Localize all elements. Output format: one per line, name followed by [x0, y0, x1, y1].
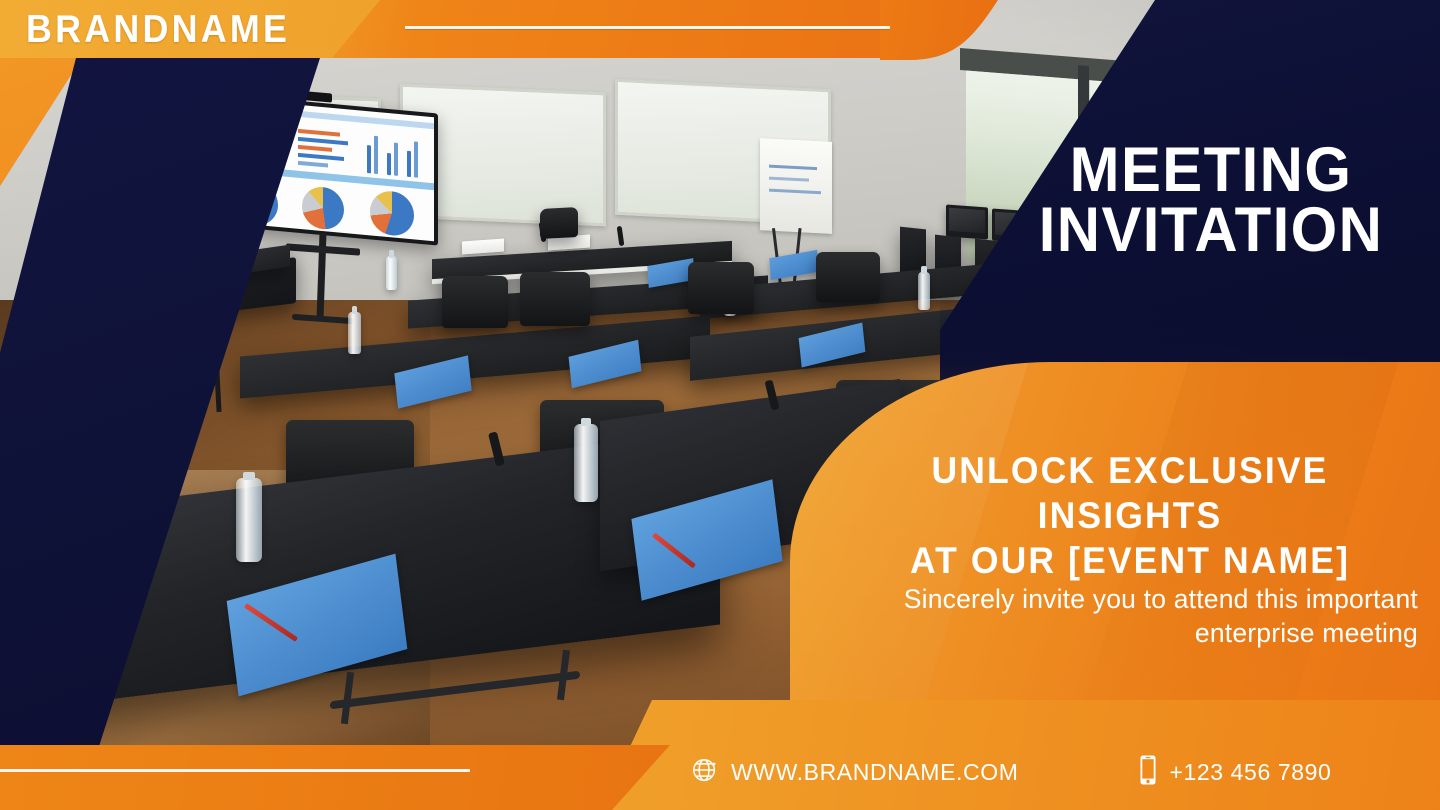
footer-contact-items: WWW.BRANDNAME.COM +123 456 7890 — [690, 748, 1430, 796]
globe-icon — [690, 755, 720, 790]
page-title: MEETING INVITATION — [1002, 140, 1420, 261]
footer-band-dark — [0, 745, 680, 810]
phone-label: +123 456 7890 — [1169, 759, 1331, 786]
invitation-canvas: BRANDNAME MEETING INVITATION UNLOCK EXCL… — [0, 0, 1440, 810]
footer-website[interactable]: WWW.BRANDNAME.COM — [690, 755, 1018, 790]
footer-phone[interactable]: +123 456 7890 — [1138, 754, 1331, 791]
chair — [688, 262, 754, 314]
monitor — [946, 205, 988, 240]
headline-line-2: AT OUR [EVENT NAME] — [842, 538, 1418, 583]
website-label: WWW.BRANDNAME.COM — [731, 759, 1018, 786]
pie-chart — [370, 189, 414, 237]
water-bottle — [386, 256, 397, 290]
flipchart — [760, 138, 832, 234]
water-bottle — [348, 312, 361, 354]
chair — [520, 272, 590, 326]
pie-chart — [302, 185, 344, 231]
footer-divider-line — [0, 769, 470, 772]
headline-line-1: UNLOCK EXCLUSIVE INSIGHTS — [842, 448, 1418, 538]
header-divider-line — [405, 26, 890, 29]
chair — [816, 252, 880, 302]
mobile-phone-icon — [1138, 754, 1158, 791]
title-line-2: INVITATION — [1002, 200, 1420, 260]
brand-logo[interactable]: BRANDNAME — [26, 8, 290, 52]
body-text: Sincerely invite you to attend this impo… — [790, 582, 1430, 651]
chair — [540, 207, 578, 239]
water-bottle — [574, 424, 598, 502]
water-bottle — [236, 478, 262, 562]
chair — [442, 276, 508, 328]
headline: UNLOCK EXCLUSIVE INSIGHTS AT OUR [EVENT … — [842, 448, 1418, 583]
water-bottle — [918, 272, 930, 310]
title-line-1: MEETING — [1002, 140, 1420, 200]
